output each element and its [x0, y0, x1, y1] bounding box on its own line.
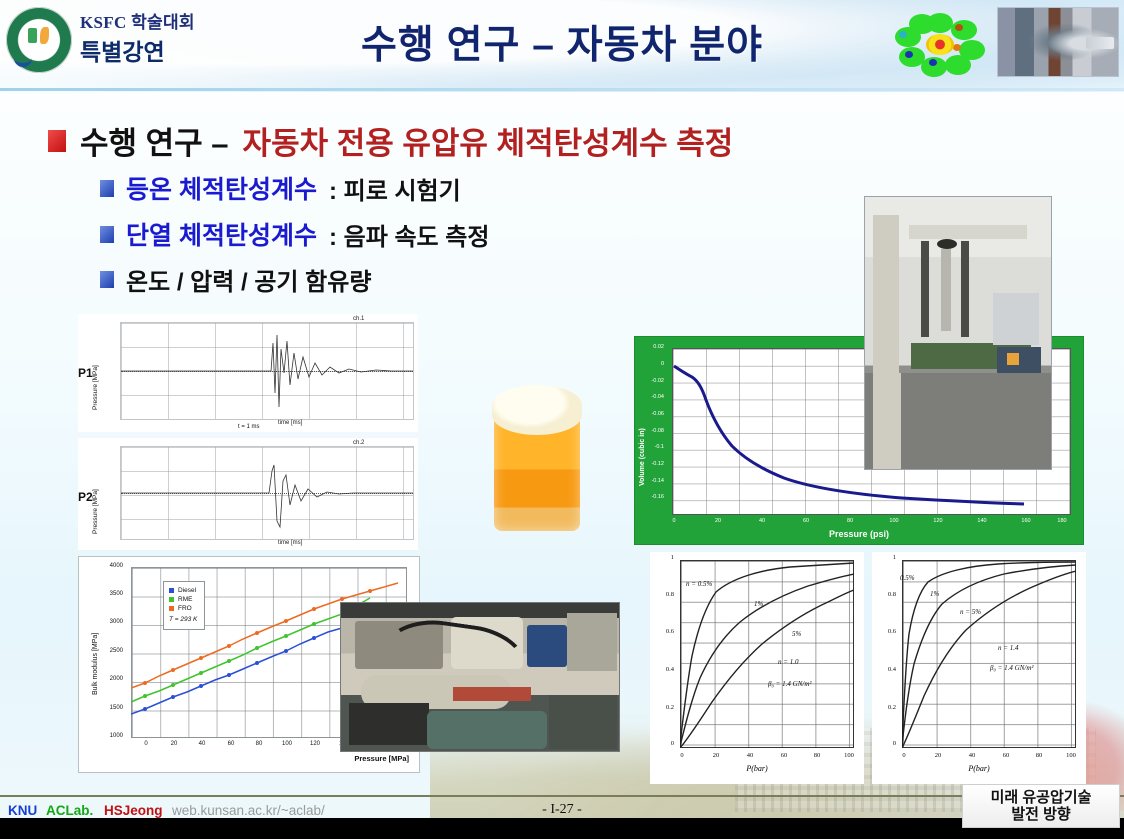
page-number: - I-27 - — [0, 802, 1124, 818]
vol-xtick-100: 100 — [884, 518, 904, 524]
beta-right-annotation-1: 0.5% — [900, 574, 915, 582]
beta-left-xtick-80: 80 — [808, 752, 826, 759]
beta-left-xlabel: P(bar) — [650, 764, 864, 773]
bulk-xtick-40: 40 — [192, 741, 212, 747]
vol-xtick-20: 20 — [708, 518, 728, 524]
sub-bullet-1-key: 등온 체적탄성계수 — [126, 170, 317, 206]
vol-xtick-160: 160 — [1016, 518, 1036, 524]
waveform-p1-ylabel: Pressure [MPa] — [92, 365, 99, 410]
vol-xtick-120: 120 — [928, 518, 948, 524]
bulk-ytick-2000: 2000 — [97, 676, 123, 682]
legend-label-diesel: Diesel — [178, 586, 196, 595]
fatigue-tester-photo — [864, 196, 1052, 470]
sub-bullet-1: 등온 체적탄성계수 : 피로 시험기 — [100, 170, 461, 206]
beta-left-xtick-40: 40 — [741, 752, 759, 759]
main-bullet: 수행 연구 – 자동차 전용 유압유 체적탄성계수 측정 — [48, 118, 733, 163]
vol-ytick-2: 0 — [638, 361, 664, 367]
bulk-modulus-legend: Diesel RME FRO T = 293 K — [163, 581, 205, 630]
waveform-chart-p2: P2 Pressure [MPa] ch.2 time [ms] — [78, 438, 418, 550]
beta-left-ytick-10: 1 — [654, 554, 674, 561]
bulk-modulus-ylabel: Bulk modulus [MPa] — [92, 633, 99, 695]
beta-left-ytick-0: 0 — [654, 740, 674, 747]
footer-divider — [0, 795, 1124, 797]
waveform-p1-xlabel: time [ms] — [278, 420, 302, 426]
bulk-xtick-120: 120 — [305, 741, 325, 747]
bulk-ytick-4000: 4000 — [97, 563, 123, 569]
footer-black-bar — [0, 818, 1124, 839]
waveform-chart-p1: P1 Pressure [MPa] ch.1 time [ms] t = 1 m… — [78, 314, 418, 432]
beta-right-xtick-80: 80 — [1030, 752, 1048, 759]
beta-right-series — [902, 560, 1076, 748]
beta-right-xtick-20: 20 — [929, 752, 947, 759]
bulk-xtick-20: 20 — [164, 741, 184, 747]
vol-xtick-60: 60 — [796, 518, 816, 524]
hydraulic-test-rig-photo — [340, 602, 620, 752]
beta-left-annotation-3: 5% — [792, 630, 801, 638]
waveform-p2-ylabel: Pressure [MPa] — [92, 489, 99, 534]
beta-right-ytick-08: 0.8 — [876, 591, 896, 598]
foam-head — [492, 385, 582, 435]
beta-left-xtick-60: 60 — [775, 752, 793, 759]
bulk-ytick-2500: 2500 — [97, 648, 123, 654]
bulk-xtick-100: 100 — [277, 741, 297, 747]
beta-left-series — [680, 560, 854, 748]
bulk-xtick-0: 0 — [136, 741, 156, 747]
bullet-square-blue-icon — [100, 180, 114, 197]
header-divider — [0, 88, 1124, 91]
sub-bullet-2-value: : 음파 속도 측정 — [329, 217, 489, 252]
beta-right-ytick-06: 0.6 — [876, 628, 896, 635]
beta-left-annotation-1: n = 0.5% — [686, 580, 712, 588]
beta-right-annotation-2: 1% — [930, 590, 939, 598]
beta-left-annotation-2: 1% — [754, 600, 763, 608]
waveform-p1-plot — [120, 322, 414, 420]
vol-ytick-10: -0.16 — [638, 494, 664, 500]
bulk-ytick-3500: 3500 — [97, 591, 123, 597]
beta-right-annotation-3: n = 5% — [960, 608, 981, 616]
bulk-ytick-1000: 1000 — [97, 733, 123, 739]
slide-root: KSFC 학술대회 특별강연 수행 연구 – 자동차 분야 수행 연구 – 자동… — [0, 0, 1124, 839]
beta-left-ytick-04: 0.4 — [654, 666, 674, 673]
corner-theme-line2: 발전 방향 — [1011, 806, 1070, 823]
bulk-modulus-xlabel: Pressure [MPa] — [354, 754, 409, 763]
sub-bullet-2: 단열 체적탄성계수 : 음파 속도 측정 — [100, 216, 489, 252]
beta-right-xtick-60: 60 — [997, 752, 1015, 759]
beta-left-xtick-20: 20 — [707, 752, 725, 759]
beta-ratio-chart-left: n = 0.5% 1% 5% n = 1.0 β₀ = 1.4 GN/m² 0 … — [650, 552, 864, 784]
vol-xtick-140: 140 — [972, 518, 992, 524]
beta-left-xtick-100: 100 — [840, 752, 858, 759]
vol-ytick-3: -0.02 — [638, 378, 664, 384]
bulk-ytick-1500: 1500 — [97, 705, 123, 711]
main-bullet-prefix: 수행 연구 – — [80, 118, 229, 163]
beta-right-ytick-02: 0.2 — [876, 704, 896, 711]
beta-right-ytick-10: 1 — [876, 554, 896, 561]
corner-theme-box: 미래 유공압기술 발전 방향 — [962, 784, 1120, 828]
volume-pressure-xlabel: Pressure (psi) — [634, 529, 1084, 539]
beta-right-ytick-0: 0 — [876, 740, 896, 747]
vol-xtick-0: 0 — [664, 518, 684, 524]
beta-left-ytick-02: 0.2 — [654, 704, 674, 711]
beta-right-xtick-100: 100 — [1062, 752, 1080, 759]
legend-label-fro: FRO — [178, 604, 192, 613]
legend-marker-fro — [169, 606, 174, 611]
vol-ytick-1: 0.02 — [638, 344, 664, 350]
bullet-square-red-icon — [48, 130, 66, 152]
bulk-ytick-3000: 3000 — [97, 619, 123, 625]
slide-header: KSFC 학술대회 특별강연 수행 연구 – 자동차 분야 — [0, 0, 1124, 88]
beta-right-xlabel: P(bar) — [872, 764, 1086, 773]
waveform-time-annotation: t = 1 ms — [238, 424, 260, 430]
sub-bullet-3: 온도 / 압력 / 공기 함유량 — [100, 262, 371, 297]
vol-xtick-180: 180 — [1052, 518, 1072, 524]
legend-label-rme: RME — [178, 595, 192, 604]
motor-photo — [997, 7, 1119, 77]
beta-right-annotation-4: n = 1.4 — [998, 644, 1018, 652]
bulk-modulus-annotation: T = 293 K — [169, 613, 197, 624]
vol-xtick-80: 80 — [840, 518, 860, 524]
bulk-xtick-60: 60 — [221, 741, 241, 747]
vol-ytick-5: -0.06 — [638, 411, 664, 417]
legend-marker-rme — [169, 597, 174, 602]
beta-left-annotation-5: β₀ = 1.4 GN/m² — [768, 680, 811, 688]
sub-bullet-1-value: : 피로 시험기 — [329, 171, 461, 206]
waveform-p2-xlabel: time [ms] — [278, 540, 302, 546]
waveform-p2-plot — [120, 446, 414, 540]
bullet-square-blue-icon — [100, 271, 114, 288]
beta-right-annotation-5: β₀ = 1.4 GN/m² — [990, 664, 1033, 672]
beta-left-xtick-0: 0 — [673, 752, 691, 759]
vol-xtick-40: 40 — [752, 518, 772, 524]
vol-ytick-4: -0.04 — [638, 394, 664, 400]
legend-marker-diesel — [169, 588, 174, 593]
beta-right-xtick-0: 0 — [895, 752, 913, 759]
flower-logo-icon — [893, 11, 988, 77]
waveform-p2-label: P2 — [78, 490, 93, 504]
beta-left-ytick-08: 0.8 — [654, 591, 674, 598]
sub-bullet-2-key: 단열 체적탄성계수 — [126, 216, 317, 252]
beta-left-ytick-06: 0.6 — [654, 628, 674, 635]
beta-right-xtick-40: 40 — [963, 752, 981, 759]
aerated-oil-glass — [488, 377, 586, 537]
bullet-square-blue-icon — [100, 226, 114, 243]
bulk-xtick-80: 80 — [249, 741, 269, 747]
sub-bullet-3-key: 온도 / 압력 / 공기 함유량 — [126, 262, 371, 297]
beta-right-ytick-04: 0.4 — [876, 666, 896, 673]
corner-theme-line1: 미래 유공압기술 — [991, 789, 1092, 806]
beta-ratio-chart-right: 0.5% 1% n = 5% n = 1.4 β₀ = 1.4 GN/m² 0 … — [872, 552, 1086, 784]
beta-left-annotation-4: n = 1.0 — [778, 658, 798, 666]
main-bullet-highlight: 자동차 전용 유압유 체적탄성계수 측정 — [243, 118, 734, 163]
waveform-p1-label: P1 — [78, 366, 93, 380]
volume-pressure-ylabel: Volume (cubic in) — [639, 428, 646, 486]
